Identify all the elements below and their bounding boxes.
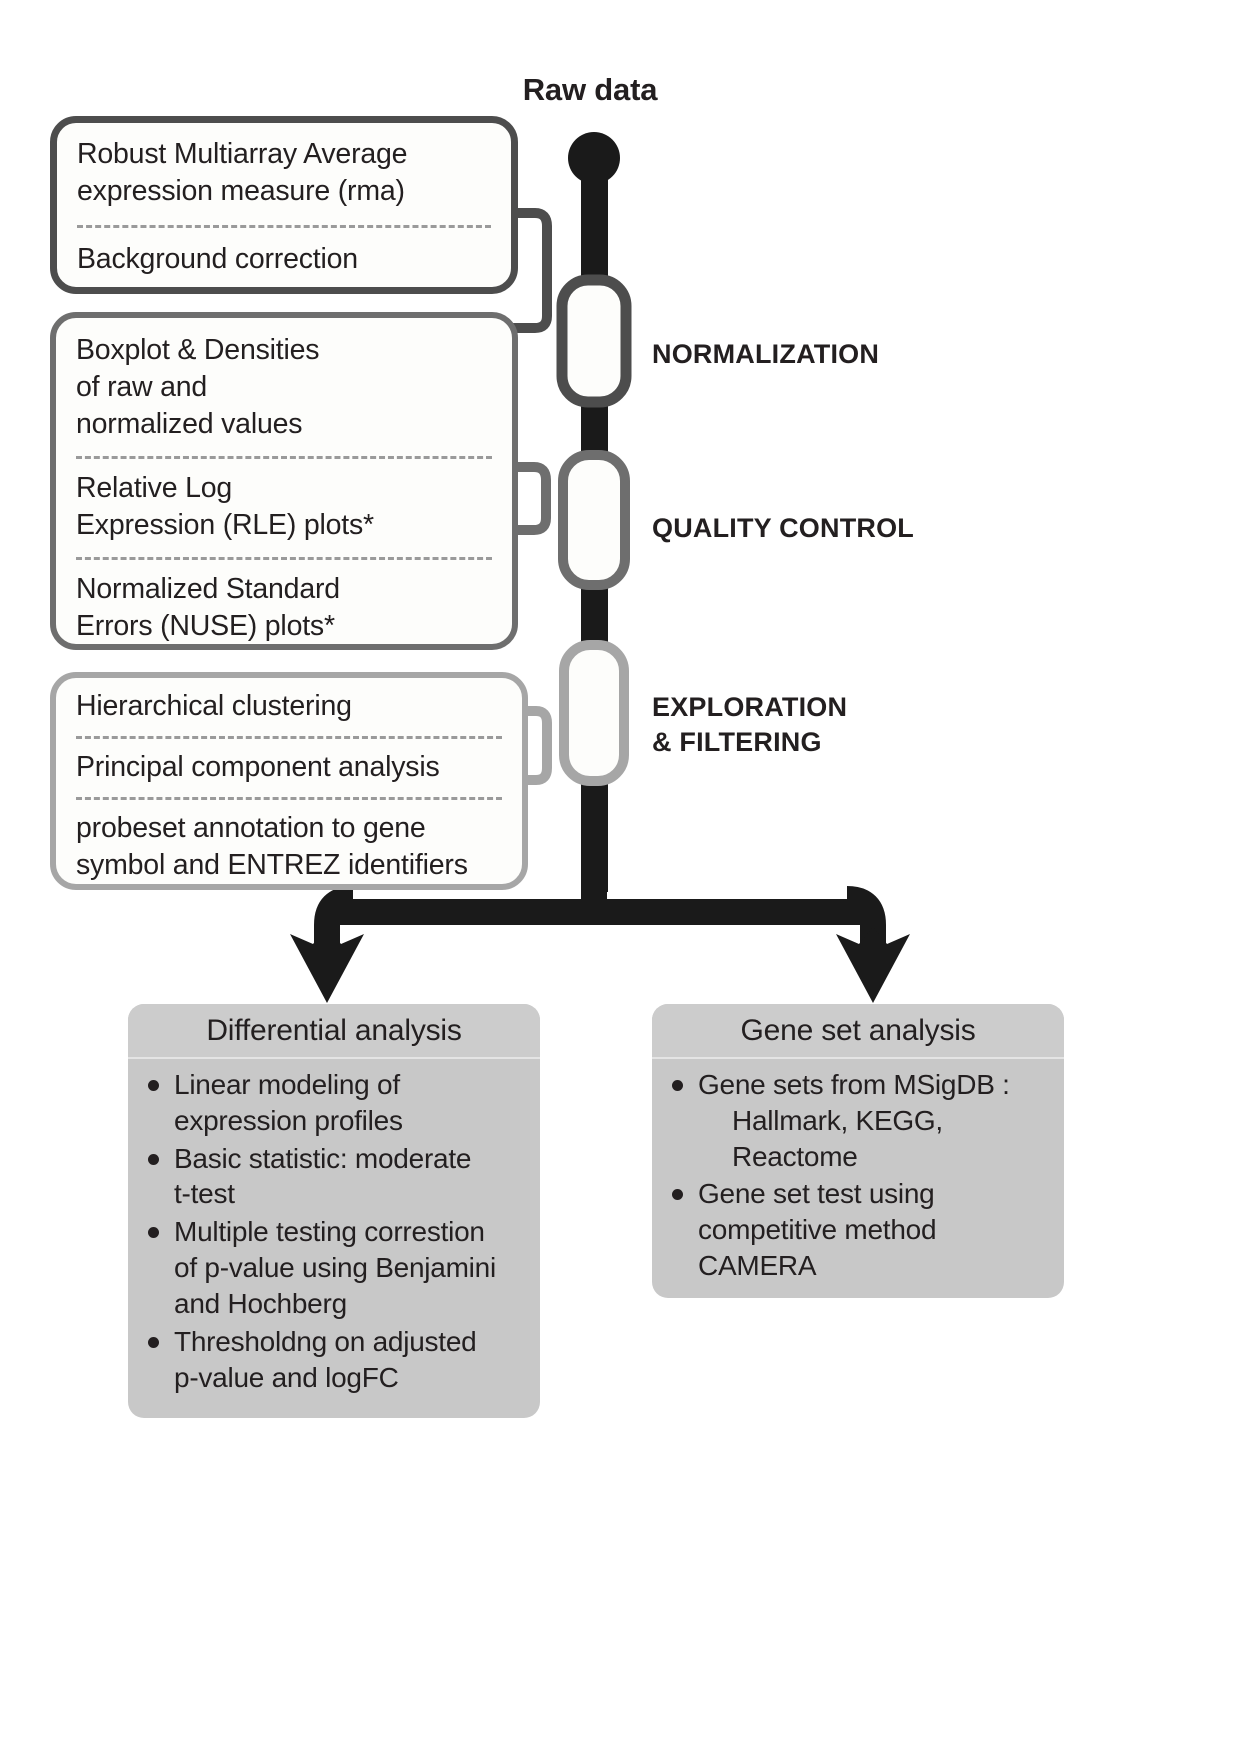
stage-card-row-line: Relative Log <box>76 470 492 507</box>
stage-card-row: Background correction <box>77 225 491 293</box>
bullet-list: Gene sets from MSigDB :Hallmark, KEGG,Re… <box>666 1067 1050 1284</box>
bullet-dot-icon <box>148 1227 159 1238</box>
arrowhead-left <box>290 927 364 1003</box>
stage-card-row-line: of raw and <box>76 369 492 406</box>
list-item-line: CAMERA <box>698 1248 1050 1284</box>
list-item-text: Linear modeling ofexpression profiles <box>174 1067 526 1139</box>
list-item-line: Thresholdng on adjusted <box>174 1324 526 1360</box>
arrowhead-right <box>836 927 910 1003</box>
bullet-list: Linear modeling ofexpression profiles Ba… <box>142 1067 526 1395</box>
stage-card-row-line: probeset annotation to gene <box>76 810 502 847</box>
list-item: Gene sets from MSigDB :Hallmark, KEGG,Re… <box>666 1067 1050 1174</box>
stage-card-row: Boxplot & Densitiesof raw andnormalized … <box>76 318 492 456</box>
stage-card-row-line: Errors (NUSE) plots* <box>76 608 492 645</box>
quality-control-node-icon <box>563 455 625 585</box>
stage-card-row-line: Principal component analysis <box>76 749 502 786</box>
list-item-line: p-value and logFC <box>174 1360 526 1396</box>
stage-card-row-line: Expression (RLE) plots* <box>76 507 492 544</box>
list-item: Linear modeling ofexpression profiles <box>142 1067 526 1139</box>
stage-label-exploration-filtering: EXPLORATION & FILTERING <box>652 690 847 760</box>
list-item-text: Basic statistic: moderatet-test <box>174 1141 526 1213</box>
exploration-node-icon <box>564 645 624 781</box>
bullet-dot-icon <box>148 1154 159 1165</box>
list-item: Basic statistic: moderatet-test <box>142 1141 526 1213</box>
list-item-text: Multiple testing correstionof p-value us… <box>174 1214 526 1321</box>
list-item: Gene set test usingcompetitive methodCAM… <box>666 1176 1050 1283</box>
workflow-diagram: Raw data Robust Multiarray Averageexpres… <box>0 0 1240 1753</box>
list-item-line: Linear modeling of <box>174 1067 526 1103</box>
stage-label-line-1: EXPLORATION <box>652 690 847 725</box>
list-item-line: Reactome <box>698 1139 1050 1175</box>
list-item-line: of p-value using Benjamini <box>174 1250 526 1286</box>
page-title: Raw data <box>470 72 710 108</box>
stage-card-row-line: symbol and ENTREZ identifiers <box>76 847 502 884</box>
result-panel-title: Differential analysis <box>128 1004 540 1059</box>
stage-card-row-line: Hierarchical clustering <box>76 688 502 725</box>
bullet-dot-icon <box>148 1337 159 1348</box>
list-item-text: Thresholdng on adjustedp-value and logFC <box>174 1324 526 1396</box>
stage-card-row: Relative LogExpression (RLE) plots* <box>76 456 492 557</box>
bullet-dot-icon <box>672 1189 683 1200</box>
list-item: Thresholdng on adjustedp-value and logFC <box>142 1324 526 1396</box>
list-item-line: t-test <box>174 1176 526 1212</box>
stage-card-row-line: normalized values <box>76 406 492 443</box>
stage-card-row-line: Robust Multiarray Average <box>77 136 491 173</box>
result-panel-body: Gene sets from MSigDB :Hallmark, KEGG,Re… <box>652 1059 1064 1298</box>
stage-card-row: Robust Multiarray Averageexpression meas… <box>77 123 491 225</box>
list-item-line: Gene sets from MSigDB : <box>698 1067 1050 1103</box>
raw-data-node-icon <box>568 132 620 184</box>
stage-label-line-2: & FILTERING <box>652 725 847 760</box>
list-item-text: Gene sets from MSigDB :Hallmark, KEGG,Re… <box>698 1067 1050 1174</box>
stage-card-normalization: Robust Multiarray Averageexpression meas… <box>50 116 518 294</box>
stage-card-row: probeset annotation to genesymbol and EN… <box>76 797 502 895</box>
list-item-line: Hallmark, KEGG, <box>698 1103 1050 1139</box>
bullet-dot-icon <box>672 1080 683 1091</box>
stage-card-row-line: Background correction <box>77 241 491 278</box>
stage-card-row: Normalized StandardErrors (NUSE) plots* <box>76 557 492 658</box>
list-item-line: competitive method <box>698 1212 1050 1248</box>
stage-card-row-line: expression measure (rma) <box>77 173 491 210</box>
bullet-dot-icon <box>148 1080 159 1091</box>
stage-card-row: Principal component analysis <box>76 736 502 797</box>
list-item-line: Basic statistic: moderate <box>174 1141 526 1177</box>
list-item-line: Gene set test using <box>698 1176 1050 1212</box>
list-item-line: Multiple testing correstion <box>174 1214 526 1250</box>
list-item-line: and Hochberg <box>174 1286 526 1322</box>
stage-label-normalization: NORMALIZATION <box>652 337 879 372</box>
stage-card-row-line: Normalized Standard <box>76 571 492 608</box>
stage-card-row: Hierarchical clustering <box>76 678 502 736</box>
list-item: Multiple testing correstionof p-value us… <box>142 1214 526 1321</box>
list-item-line: expression profiles <box>174 1103 526 1139</box>
list-item-text: Gene set test usingcompetitive methodCAM… <box>698 1176 1050 1283</box>
normalization-node-icon <box>562 280 626 402</box>
stage-card-quality-control: Boxplot & Densitiesof raw andnormalized … <box>50 312 518 650</box>
stage-card-exploration-filtering: Hierarchical clustering Principal compon… <box>50 672 528 890</box>
stage-label-quality-control: QUALITY CONTROL <box>652 511 914 546</box>
result-panel-body: Linear modeling ofexpression profiles Ba… <box>128 1059 540 1413</box>
result-panel-title: Gene set analysis <box>652 1004 1064 1059</box>
result-panel-gene-set-analysis: Gene set analysis Gene sets from MSigDB … <box>652 1004 1064 1298</box>
stage-card-row-line: Boxplot & Densities <box>76 332 492 369</box>
result-panel-differential-analysis: Differential analysis Linear modeling of… <box>128 1004 540 1418</box>
